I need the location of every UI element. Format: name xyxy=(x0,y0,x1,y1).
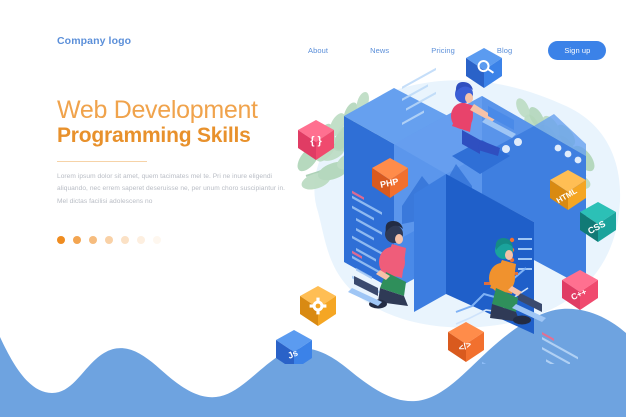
page-title-primary: Web Development xyxy=(57,96,297,124)
carousel-dot[interactable] xyxy=(105,236,113,244)
screen-right-code xyxy=(534,114,586,364)
hero-paragraph: Lorem ipsum dolor sit amet, quem tacimat… xyxy=(57,171,297,208)
nav-item-about[interactable]: About xyxy=(308,46,328,55)
carousel-dot[interactable] xyxy=(137,236,145,244)
site-header: Company logo About News Pricing Blog Sig… xyxy=(0,0,626,78)
title-divider xyxy=(57,161,147,163)
page-title-secondary: Programming Skills xyxy=(57,124,297,149)
nav-item-blog[interactable]: Blog xyxy=(497,46,512,55)
hero-text-block: Web Development Programming Skills Lorem… xyxy=(57,96,297,244)
badge-js-icon: Js xyxy=(276,330,312,364)
carousel-dot[interactable] xyxy=(121,236,129,244)
badge-gear-icon xyxy=(300,286,336,326)
hero-illustration: { } PHP xyxy=(266,44,626,364)
carousel-dot[interactable] xyxy=(89,236,97,244)
main-navigation: About News Pricing Blog Sign up xyxy=(308,41,606,60)
badge-code-icon: </> xyxy=(448,322,484,362)
landing-page: Company logo About News Pricing Blog Sig… xyxy=(0,0,626,417)
carousel-dot[interactable] xyxy=(73,236,81,244)
nav-item-pricing[interactable]: Pricing xyxy=(431,46,455,55)
company-logo[interactable]: Company logo xyxy=(57,35,131,47)
svg-text:{ }: { } xyxy=(310,135,322,147)
carousel-dot[interactable] xyxy=(57,236,65,244)
carousel-dot[interactable] xyxy=(153,236,161,244)
carousel-dots[interactable] xyxy=(57,236,297,244)
sign-up-button[interactable]: Sign up xyxy=(548,41,606,60)
nav-item-news[interactable]: News xyxy=(370,46,389,55)
